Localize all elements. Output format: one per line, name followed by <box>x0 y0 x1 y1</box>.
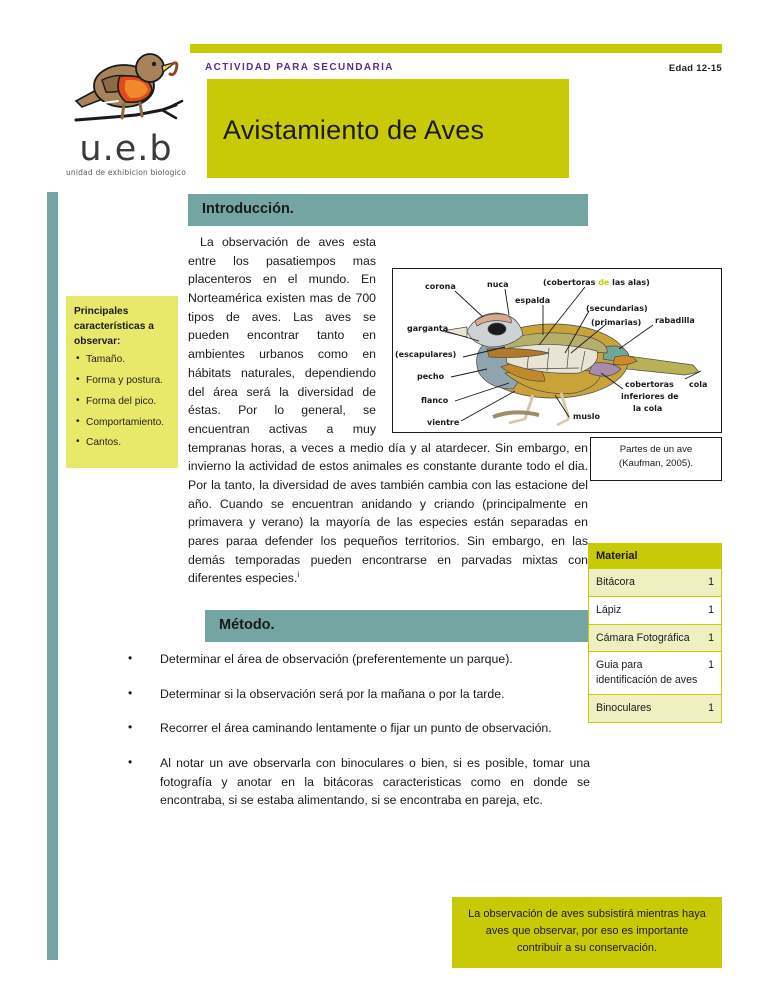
figure-label: garganta <box>407 324 448 333</box>
material-name: Bitácora <box>596 575 635 590</box>
figure-label: (escapulares) <box>395 350 456 359</box>
list-item: Comportamiento. <box>86 416 170 431</box>
section-header-introduccion-label: Introducción. <box>202 201 294 217</box>
material-qty: 1 <box>708 701 714 716</box>
logo-wordmark: u.e.b <box>62 132 190 167</box>
figure-label: (primarias) <box>591 318 641 327</box>
list-item: Forma del pico. <box>86 395 170 410</box>
figure-label: nuca <box>487 280 509 289</box>
list-item: Tamaño. <box>86 353 170 368</box>
material-name: Lápiz <box>596 603 621 618</box>
material-name: Guia para identificación de aves <box>596 658 704 688</box>
figure-label: cobertoras <box>625 380 674 389</box>
bird-on-branch-icon <box>62 46 190 138</box>
figure-caption-line1: Partes de un ave <box>591 443 721 457</box>
logo-tagline: unidad de exhibicion biologico <box>62 168 190 177</box>
figure-label: espalda <box>515 296 550 305</box>
figure-label: corona <box>425 282 456 291</box>
conservation-quote-text: La observación de aves subsistirá mientr… <box>468 908 706 954</box>
figure-label: inferiores de <box>621 392 679 401</box>
section-header-metodo-label: Método. <box>219 617 275 633</box>
figure-label: la cola <box>633 404 662 413</box>
list-item: Determinar el área de observación (prefe… <box>112 650 590 669</box>
table-row: Binoculares 1 <box>589 694 721 722</box>
metodo-step-list: Determinar el área de observación (prefe… <box>112 650 590 826</box>
callout-principales-caracteristicas: Principales características a observar: … <box>66 296 178 468</box>
material-qty: 1 <box>708 575 714 590</box>
bird-anatomy-diagram: corona nuca espalda (cobertoras de las a… <box>393 269 720 431</box>
page-title: Avistamiento de Aves <box>223 115 484 146</box>
left-accent-rule <box>47 192 58 960</box>
table-row: Cámara Fotográfica 1 <box>589 624 721 652</box>
ueb-logo: u.e.b unidad de exhibicion biologico <box>62 46 190 178</box>
top-accent-strip <box>190 44 722 53</box>
figure-caption: Partes de un ave (Kaufman, 2005). <box>590 437 722 481</box>
list-item: Forma y postura. <box>86 374 170 389</box>
title-block: Avistamiento de Aves <box>207 79 569 178</box>
figure-caption-line2: (Kaufman, 2005). <box>591 457 721 471</box>
material-qty: 1 <box>708 631 714 646</box>
bird-anatomy-figure: corona nuca espalda (cobertoras de las a… <box>392 268 722 433</box>
figure-label: (cobertoras de las alas) <box>543 278 650 287</box>
section-header-metodo: Método. <box>205 610 588 642</box>
material-qty: 1 <box>708 603 714 618</box>
conservation-quote-box: La observación de aves subsistirá mientr… <box>452 897 722 968</box>
figure-label: (secundarias) <box>586 304 648 313</box>
material-name: Cámara Fotográfica <box>596 631 690 646</box>
list-item: Recorrer el área caminando lentamente o … <box>112 719 590 738</box>
material-table: Material Bitácora 1 Lápiz 1 Cámara Fotog… <box>588 543 722 723</box>
list-item: Determinar si la observación será por la… <box>112 685 590 704</box>
table-row: Guia para identificación de aves 1 <box>589 651 721 694</box>
footnote-marker: i <box>297 570 299 579</box>
age-range-label: Edad 12-15 <box>669 63 722 74</box>
callout-title: Principales características a observar: <box>74 305 170 349</box>
figure-label: flanco <box>421 396 449 405</box>
figure-label: cola <box>689 380 707 389</box>
list-item: Cantos. <box>86 436 170 451</box>
material-table-header: Material <box>589 544 721 568</box>
material-qty: 1 <box>708 658 714 673</box>
section-header-introduccion: Introducción. <box>188 194 588 226</box>
figure-label: vientre <box>427 418 460 427</box>
material-name: Binoculares <box>596 701 651 716</box>
kicker-label: ACTIVIDAD PARA SECUNDARIA <box>205 62 394 73</box>
table-row: Lápiz 1 <box>589 596 721 624</box>
figure-label: muslo <box>573 412 601 421</box>
table-row: Bitácora 1 <box>589 568 721 596</box>
figure-label: rabadilla <box>655 316 695 325</box>
callout-list: Tamaño. Forma y postura. Forma del pico.… <box>74 353 170 451</box>
figure-label: pecho <box>417 372 445 381</box>
list-item: Al notar un ave observarla con binocular… <box>112 754 590 810</box>
